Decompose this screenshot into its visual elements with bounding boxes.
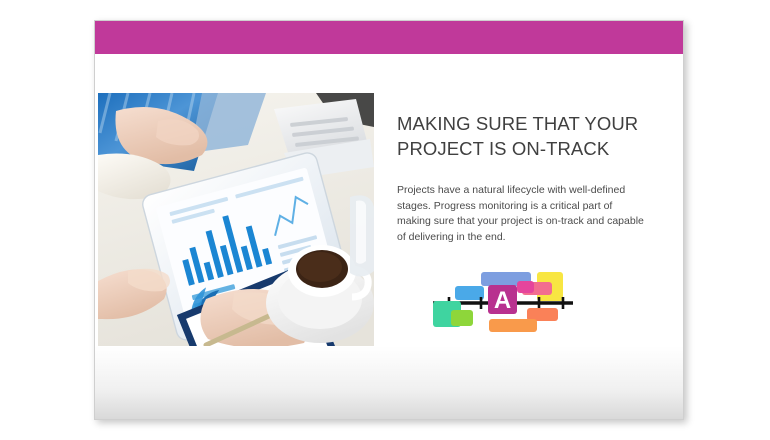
- bar-green: [451, 310, 473, 326]
- business-tablet-analytics-photo: [98, 93, 374, 346]
- gantt-chart-icon: A: [429, 259, 577, 337]
- bar-blue: [455, 286, 484, 300]
- slide-body-text: Projects have a natural lifecycle with w…: [397, 183, 647, 245]
- bar-magenta-small: [517, 281, 534, 293]
- photo-illustration: [98, 93, 374, 346]
- bar-orange-bottom: [489, 319, 537, 332]
- letter-a: A: [494, 287, 511, 314]
- slide-text-column: MAKING SURE THAT YOUR PROJECT IS ON-TRAC…: [397, 111, 647, 245]
- slide-title: MAKING SURE THAT YOUR PROJECT IS ON-TRAC…: [397, 111, 647, 161]
- slide-header-band: [95, 21, 683, 54]
- slide-footer-band: [95, 346, 683, 419]
- project-timeline-graphic: A: [429, 259, 577, 337]
- slide-canvas: MAKING SURE THAT YOUR PROJECT IS ON-TRAC…: [94, 20, 684, 420]
